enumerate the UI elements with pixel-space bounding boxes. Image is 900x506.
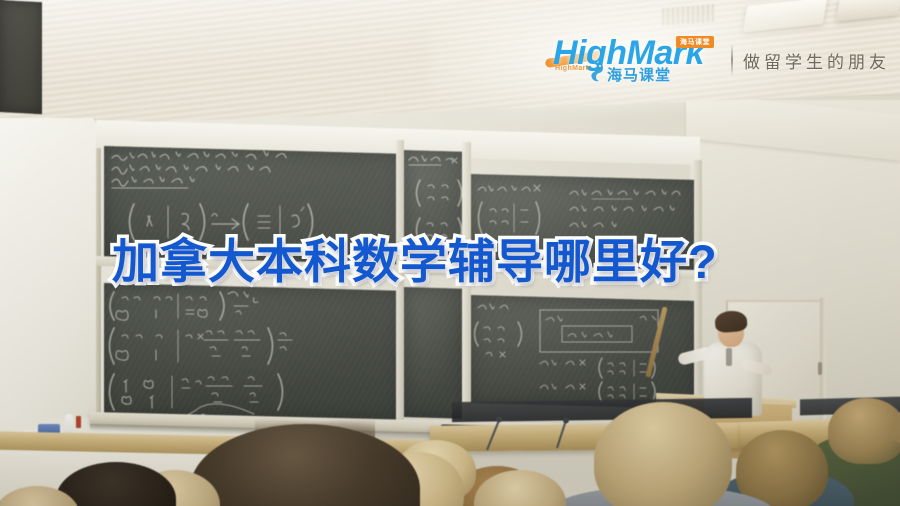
- logo-english-subtext: HighMark: [555, 65, 590, 72]
- chalkboard-far-right: [0, 0, 42, 114]
- logo-chinese-name: 海马课堂: [607, 64, 671, 85]
- door-handle: [818, 362, 822, 375]
- headline-title: 加拿大本科数学辅导哪里好?: [112, 238, 718, 285]
- chalkboard-lower-middle: [402, 287, 464, 419]
- logo-tagline: 做留学生的朋友: [743, 48, 890, 73]
- brand-logo[interactable]: HighMark 海马课堂 HighMark 海马课堂 做留学生的朋友: [545, 32, 890, 88]
- lecturer-tie: [726, 348, 732, 366]
- student-head: [736, 430, 828, 506]
- ledge-marker: [76, 416, 81, 428]
- logo-mark: HighMark 海马课堂 HighMark 海马课堂: [545, 34, 717, 86]
- student-head: [828, 398, 900, 464]
- left-panel-edge: [96, 124, 101, 424]
- banner-image: HighMark 海马课堂 HighMark 海马课堂 做留学生的朋友 加拿大本…: [0, 0, 900, 506]
- chalkboard-lower-left: [104, 283, 400, 423]
- seahorse-icon: [589, 61, 605, 83]
- student-head: [594, 402, 732, 506]
- logo-divider: [731, 45, 733, 75]
- logo-badge: 海马课堂: [676, 36, 714, 48]
- lecturer-hair: [714, 310, 747, 333]
- left-wall-panel: [0, 118, 98, 418]
